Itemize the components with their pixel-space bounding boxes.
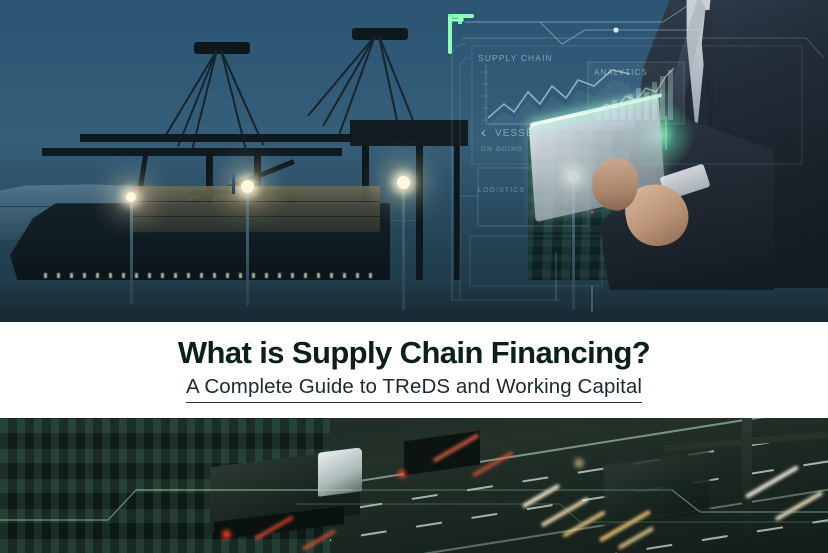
- hero-image-port: SUPPLY CHAIN ANALYTICS ‹ VESSEL ON GOING…: [0, 0, 828, 322]
- hero-image-highway: [0, 418, 828, 553]
- lamp-light: [241, 180, 254, 193]
- businessman-figure: [584, 0, 828, 288]
- page-title: What is Supply Chain Financing?: [178, 337, 650, 368]
- lamp-light: [397, 176, 410, 189]
- ship-deck-lights: [44, 273, 374, 278]
- lamp-light: [126, 192, 136, 202]
- subtitle-underline: A Complete Guide to TReDS and Working Ca…: [186, 377, 642, 403]
- page-subtitle: A Complete Guide to TReDS and Working Ca…: [186, 377, 642, 398]
- ship-container-stack: [130, 186, 380, 232]
- lamp-post: [402, 182, 405, 310]
- title-band: What is Supply Chain Financing? A Comple…: [0, 322, 828, 418]
- lamp-post: [130, 196, 133, 304]
- lamp-post: [232, 172, 235, 194]
- lamp-post: [246, 186, 249, 306]
- supply-chain-financing-banner: SUPPLY CHAIN ANALYTICS ‹ VESSEL ON GOING…: [0, 0, 828, 553]
